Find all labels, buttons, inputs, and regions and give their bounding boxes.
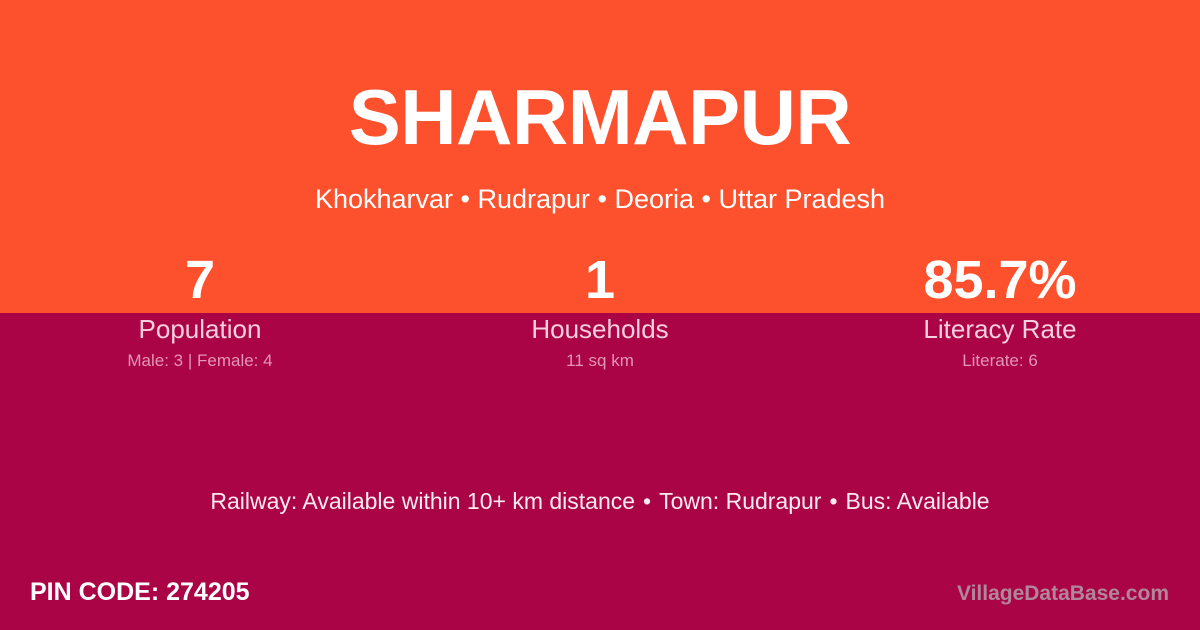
stat-literacy-label: Literacy Rate <box>800 314 1200 344</box>
statistics-row: 7 Population Male: 3 | Female: 4 1 House… <box>0 252 1200 371</box>
stat-population: 7 Population Male: 3 | Female: 4 <box>0 252 400 371</box>
amenities-summary: Railway: Available within 10+ km distanc… <box>0 487 1200 515</box>
stat-population-breakdown: Male: 3 | Female: 4 <box>0 351 400 371</box>
page-title: SHARMAPUR <box>0 78 1200 156</box>
amenity-bus: Bus: Available <box>846 488 990 514</box>
card-footer: PIN CODE: 274205 VillageDataBase.com <box>0 575 1200 615</box>
stat-population-value: 7 <box>0 252 400 308</box>
stat-literacy: 85.7% Literacy Rate Literate: 6 <box>800 252 1200 371</box>
pin-code-label: PIN CODE: 274205 <box>30 575 250 609</box>
stat-population-label: Population <box>0 314 400 344</box>
stat-households: 1 Households 11 sq km <box>400 252 800 371</box>
site-brand-watermark: VillageDataBase.com <box>957 579 1169 609</box>
stat-literacy-value: 85.7% <box>800 252 1200 308</box>
stat-literacy-count: Literate: 6 <box>800 351 1200 371</box>
amenity-separator-icon: • <box>635 488 659 514</box>
stat-households-area: 11 sq km <box>400 351 800 371</box>
village-info-card: SHARMAPUR Khokharvar • Rudrapur • Deoria… <box>0 0 1200 630</box>
amenity-railway: Railway: Available within 10+ km distanc… <box>210 488 635 514</box>
breadcrumb: Khokharvar • Rudrapur • Deoria • Uttar P… <box>0 183 1200 215</box>
amenity-separator-icon: • <box>821 488 845 514</box>
amenity-town: Town: Rudrapur <box>659 488 821 514</box>
stat-households-label: Households <box>400 314 800 344</box>
stat-households-value: 1 <box>400 252 800 308</box>
